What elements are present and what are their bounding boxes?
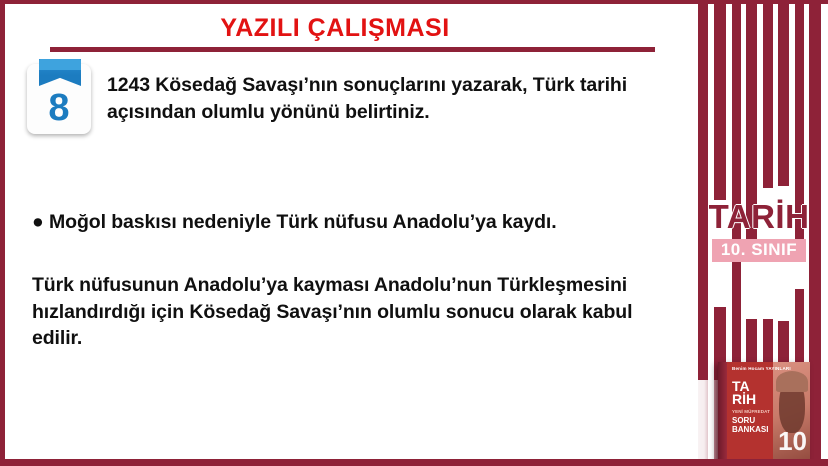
barcode-bar bbox=[763, 4, 773, 188]
portrait-helmet bbox=[776, 371, 808, 393]
book-front-cover: Benim Hocam YAYINLARI TA RİH YENİ MÜFRED… bbox=[727, 362, 810, 466]
book-spine bbox=[718, 362, 727, 466]
title-divider bbox=[50, 47, 655, 52]
book-type-line-2: BANKASI bbox=[732, 425, 768, 434]
book-subtitle: YENİ MÜFREDAT bbox=[732, 409, 770, 414]
bookmark-ribbon-fold-icon bbox=[39, 59, 81, 70]
barcode-bar bbox=[809, 265, 821, 459]
question-number: 8 bbox=[27, 89, 91, 127]
slide-canvas: TARİH 10. SINIF Benim Hocam YAYINLARI TA… bbox=[0, 0, 828, 466]
barcode-bar bbox=[714, 4, 726, 200]
book-title-line-2: RİH bbox=[732, 391, 756, 407]
page-title: YAZILI ÇALIŞMASI bbox=[5, 16, 665, 41]
content-area: YAZILI ÇALIŞMASI 8 1243 Kösedağ Savaşı’n… bbox=[5, 4, 695, 459]
brand-title: TARİH bbox=[690, 200, 828, 233]
book-publisher-top: Benim Hocam YAYINLARI bbox=[732, 366, 791, 372]
question-number-badge: 8 bbox=[27, 64, 91, 134]
answer-paragraph: Türk nüfusunun Anadolu’ya kayması Anadol… bbox=[32, 272, 672, 352]
answer-bullet: ● Moğol baskısı nedeniyle Türk nüfusu An… bbox=[32, 209, 672, 236]
book-cover-image: Benim Hocam YAYINLARI TA RİH YENİ MÜFRED… bbox=[718, 362, 810, 466]
brand-lockup: TARİH 10. SINIF bbox=[690, 200, 828, 262]
book-publisher-bottom: benimhocam bbox=[732, 462, 757, 466]
question-text: 1243 Kösedağ Savaşı’nın sonuçlarını yaza… bbox=[107, 72, 687, 125]
barcode-bar bbox=[778, 4, 789, 186]
book-grade: 10 bbox=[778, 428, 807, 454]
brand-subtitle-badge: 10. SINIF bbox=[712, 239, 806, 262]
book-title: TA RİH bbox=[732, 380, 756, 407]
book-type: SORU BANKASI bbox=[732, 417, 768, 434]
sidebar-barcode-graphic: TARİH 10. SINIF Benim Hocam YAYINLARI TA… bbox=[690, 4, 828, 459]
